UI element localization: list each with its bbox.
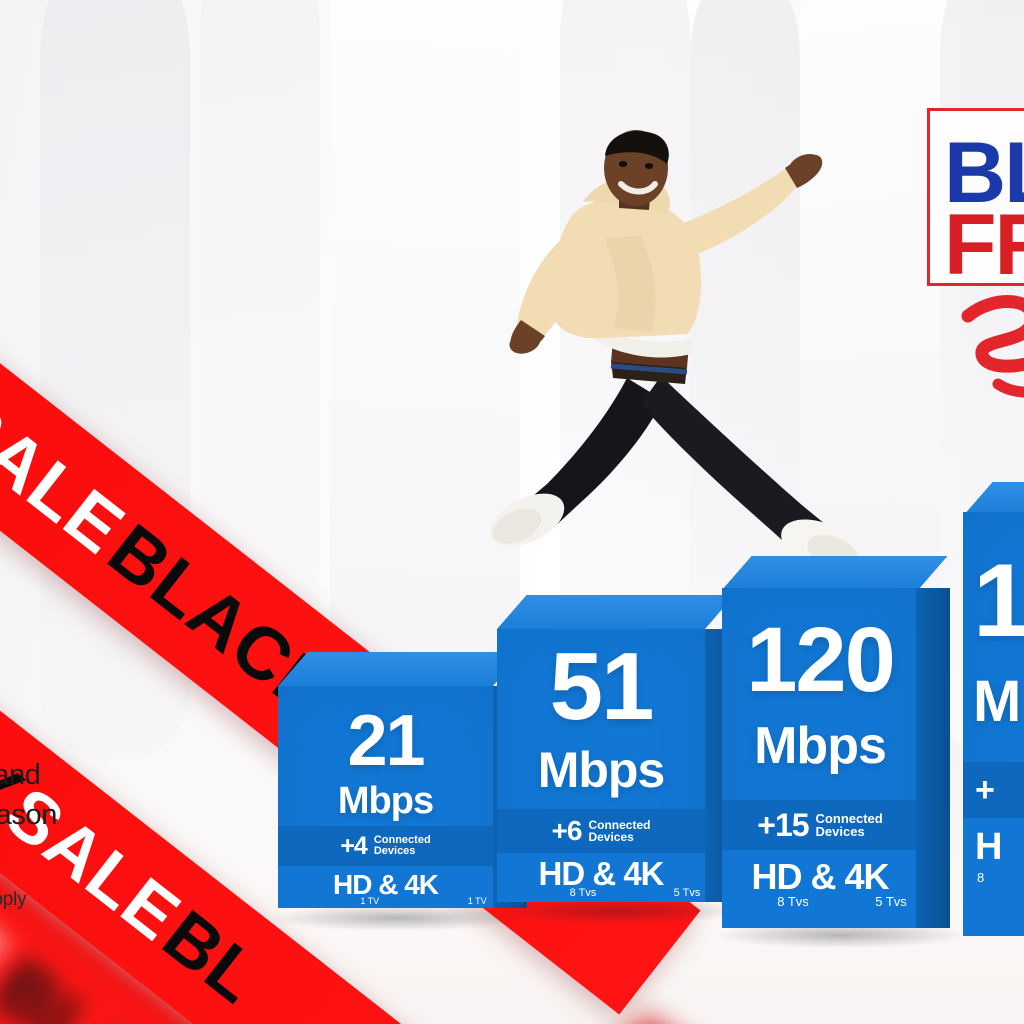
plan-speed: 120 xyxy=(722,620,918,701)
plan-devices-band: +6 Connected Devices xyxy=(497,809,705,853)
plan-block-4[interactable]: 1 M + H 8 xyxy=(963,512,1024,936)
plan-tv-row: 8 Tvs 5 Tvs xyxy=(722,894,918,909)
block-front-face: 21 Mbps +4 Connected Devices HD & 4K 1 T… xyxy=(278,686,493,908)
plan-devices-label: Connected Devices xyxy=(588,819,650,843)
plan-hd-band: HD & 4K 8 Tvs 5 Tvs xyxy=(722,850,918,928)
logo-line-friday: FRIDAY xyxy=(944,209,1024,281)
block-side-face xyxy=(916,588,950,928)
block-front-face: 120 Mbps +15 Connected Devices HD & 4K 8… xyxy=(722,588,918,928)
block-front-face: 1 M + H 8 xyxy=(963,512,1024,936)
logo-line-black: BLACK xyxy=(944,111,1024,209)
jumping-man-figure xyxy=(455,128,875,588)
plan-block-1[interactable]: 21 Mbps +4 Connected Devices HD & 4K 1 T… xyxy=(278,686,493,908)
plan-devices-label: Connected Devices xyxy=(816,812,883,838)
promo-banner: BLACK FRIDAY FRIDAY SALE BLACK FRIDAY xyxy=(0,0,1024,1024)
terms-and-conditions: nditions Apply xyxy=(0,889,212,911)
plan-hd-tvs: 8 xyxy=(977,870,984,885)
promo-headline: upgrade and re this season nternet xyxy=(0,755,182,875)
plan-hd-band: HD & 4K 8 Tvs 5 Tvs xyxy=(497,853,705,902)
plan-hd-label: HD & 4K xyxy=(722,856,918,898)
plan-speed: 51 xyxy=(497,645,705,729)
plan-hd-tvs: 8 Tvs xyxy=(777,894,809,909)
logo-script-flourish xyxy=(960,288,1024,398)
plan-speed: 21 xyxy=(278,710,493,773)
plan-block-3[interactable]: 120 Mbps +15 Connected Devices HD & 4K 8… xyxy=(722,588,918,928)
plan-unit: M xyxy=(963,668,1024,735)
plan-hd-band: HD & 4K 1 TV 1 TV xyxy=(278,866,493,908)
plan-devices-count: +15 xyxy=(757,807,808,844)
block-top-face xyxy=(278,652,523,686)
plan-hd-band: H 8 xyxy=(963,818,1024,936)
plan-block-2[interactable]: 51 Mbps +6 Connected Devices HD & 4K 8 T… xyxy=(497,629,705,902)
plan-uhd-tvs: 5 Tvs xyxy=(875,894,907,909)
plan-tv-row: 8 Tvs 5 Tvs xyxy=(497,887,705,899)
plan-unit: Mbps xyxy=(278,780,493,823)
plan-uhd-tvs: 5 Tvs xyxy=(674,887,701,899)
block-shadow xyxy=(272,905,522,931)
plan-devices-count: + xyxy=(975,771,994,810)
plan-hd-label: H xyxy=(963,826,1024,869)
plan-hd-tvs: 8 Tvs xyxy=(570,887,597,899)
plan-devices-count: +6 xyxy=(552,815,582,847)
plan-devices-band: +4 Connected Devices xyxy=(278,826,493,866)
block-front-face: 51 Mbps +6 Connected Devices HD & 4K 8 T… xyxy=(497,629,705,902)
plan-uhd-tvs: 1 TV xyxy=(468,896,487,906)
plan-devices-band: + xyxy=(963,762,1024,818)
plan-unit: Mbps xyxy=(722,716,918,776)
plan-devices-label: Connected Devices xyxy=(374,835,431,857)
block-top-face xyxy=(497,595,735,629)
block-top-face xyxy=(722,556,948,590)
plan-devices-band: +15 Connected Devices xyxy=(722,800,918,850)
plan-speed: 1 xyxy=(963,556,1024,648)
plan-devices-count: +4 xyxy=(340,832,367,861)
plan-tv-row: 1 TV 1 TV xyxy=(278,896,493,906)
plan-tv-row: 8 xyxy=(963,870,1024,885)
plan-hd-tvs: 1 TV xyxy=(360,896,379,906)
plan-unit: Mbps xyxy=(497,741,705,799)
black-friday-logo: BLACK FRIDAY xyxy=(927,108,1024,286)
